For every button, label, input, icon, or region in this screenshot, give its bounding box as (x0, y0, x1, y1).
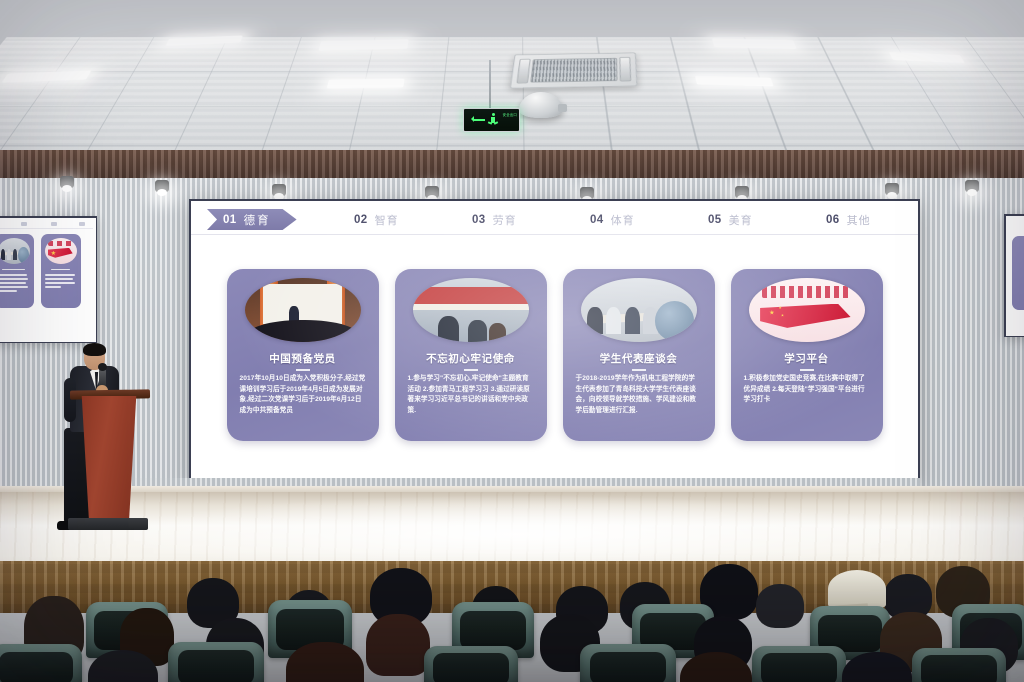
card-thumbnail-auditorium (245, 278, 361, 342)
slide-nav-number: 04 (590, 214, 604, 226)
slide-nav-label: 其他 (847, 212, 871, 228)
card-thumbnail-meeting (581, 278, 697, 342)
side-card-thumb (0, 238, 30, 264)
slide-nav-number: 03 (472, 214, 486, 226)
card-divider (632, 369, 646, 371)
exit-arrow-icon (468, 116, 485, 123)
side-card-thumb (45, 238, 77, 264)
track-spotlight (885, 183, 899, 195)
side-card (1012, 236, 1024, 310)
side-screen-cards (0, 234, 81, 308)
card-body: 1.积极参加党史国史竞赛,在比赛中取得了优异成绩 2.每天登陆"学习强国"平台进… (740, 374, 874, 406)
slide-nav-label: 体育 (611, 212, 635, 228)
ac-vane (517, 59, 531, 84)
card-thumbnail-flag (749, 278, 865, 342)
slide-nav-number: 02 (354, 214, 368, 226)
slide-card-3[interactable]: 学生代表座谈会 于2018-2019学年作为机电工程学院的学生代表参加了青岛科技… (563, 269, 715, 441)
side-card-text-lines (0, 269, 30, 292)
audience-head (366, 614, 430, 676)
side-screen-right-content (1006, 216, 1024, 336)
ac-vane (619, 57, 631, 81)
card-title: 中国预备党员 (269, 351, 336, 366)
audience-head (286, 642, 364, 682)
slide-nav: 01 德育 02 智育 03 劳育 04 体育 05 美育 (191, 207, 918, 233)
slide-nav-label: 智育 (375, 212, 399, 228)
auditorium-seat (912, 648, 1006, 682)
card-divider (464, 369, 478, 371)
card-title: 学生代表座谈会 (600, 351, 678, 366)
card-body: 1.参与学习"不忘初心,牢记使命"主题教育活动 2.参加青马工程学习习 3.通过… (404, 374, 538, 417)
presentation-slide[interactable]: 01 德育 02 智育 03 劳育 04 体育 05 美育 (191, 201, 918, 484)
slide-nav-item-02[interactable]: 02 智育 (354, 209, 399, 230)
card-title: 不忘初心牢记使命 (426, 351, 515, 366)
exit-sign-rod (489, 60, 491, 110)
speaker-hair (83, 343, 106, 356)
slide-nav-label: 劳育 (493, 212, 517, 228)
exit-sign: 安全出口 (463, 108, 520, 132)
auditorium-seat (580, 644, 676, 682)
side-screen-left-content (0, 218, 96, 342)
auditorium-seat (0, 644, 82, 682)
running-man-icon (488, 113, 499, 127)
audience-head (756, 584, 804, 628)
slide-nav-label: 德育 (244, 212, 271, 228)
track-spotlight (272, 184, 286, 196)
slide-nav-item-04[interactable]: 04 体育 (590, 209, 635, 230)
projection-screen[interactable]: 01 德育 02 智育 03 劳育 04 体育 05 美育 (189, 199, 920, 486)
side-card (41, 234, 81, 308)
slide-card-row: 中国预备党员 2017年10月10日成为入党积极分子,经过党课培训学习后于201… (191, 269, 918, 441)
slide-nav-item-01[interactable]: 01 德育 (207, 209, 297, 230)
exit-sign-label: 安全出口 (503, 113, 517, 118)
card-body: 于2018-2019学年作为机电工程学院的学生代表参加了青岛科技大学学生代表座谈… (572, 374, 706, 417)
track-spotlight (735, 186, 749, 198)
card-body: 2017年10月10日成为入党积极分子,经过党课培训学习后于2019年4月5日成… (236, 374, 370, 417)
lecture-hall-photo: 安全出口 (0, 0, 1024, 682)
slide-nav-number: 05 (708, 214, 722, 226)
ac-cassette-unit (510, 52, 638, 88)
track-spotlight (965, 180, 979, 192)
slide-nav-item-03[interactable]: 03 劳育 (472, 209, 517, 230)
audience-cap (828, 570, 886, 608)
side-card-text-lines (45, 269, 77, 288)
side-screen-right (1004, 214, 1024, 337)
speaker-arm (64, 378, 76, 422)
slide-nav-number: 01 (223, 214, 237, 226)
ceiling-light-panel (327, 79, 405, 89)
auditorium-seat (168, 642, 264, 682)
track-spotlight (60, 176, 74, 188)
card-title: 学习平台 (784, 351, 828, 366)
auditorium-seat (752, 646, 846, 682)
track-spotlight (425, 186, 439, 198)
track-spotlight (155, 180, 169, 192)
track-spotlight (580, 187, 594, 199)
audience (0, 556, 1024, 682)
slide-nav-rail (191, 234, 918, 236)
slide-nav-label: 美育 (729, 212, 753, 228)
podium-base (68, 518, 148, 530)
slide-nav-item-05[interactable]: 05 美育 (708, 209, 753, 230)
side-screen-left (0, 216, 97, 343)
slide-nav-item-06[interactable]: 06 其他 (826, 209, 871, 230)
wall-soffit-texture (0, 150, 1024, 178)
side-card (0, 234, 34, 308)
side-screen-nav (0, 221, 93, 229)
card-divider (296, 369, 310, 371)
slide-nav-number: 06 (826, 214, 840, 226)
slide-card-1[interactable]: 中国预备党员 2017年10月10日成为入党积极分子,经过党课培训学习后于201… (227, 269, 379, 441)
slide-card-2[interactable]: 不忘初心牢记使命 1.参与学习"不忘初心,牢记使命"主题教育活动 2.参加青马工… (395, 269, 547, 441)
slide-card-4[interactable]: 学习平台 1.积极参加党史国史竞赛,在比赛中取得了优异成绩 2.每天登陆"学习强… (731, 269, 883, 441)
card-divider (800, 369, 814, 371)
card-thumbnail-event (413, 278, 529, 342)
auditorium-seat (424, 646, 518, 682)
